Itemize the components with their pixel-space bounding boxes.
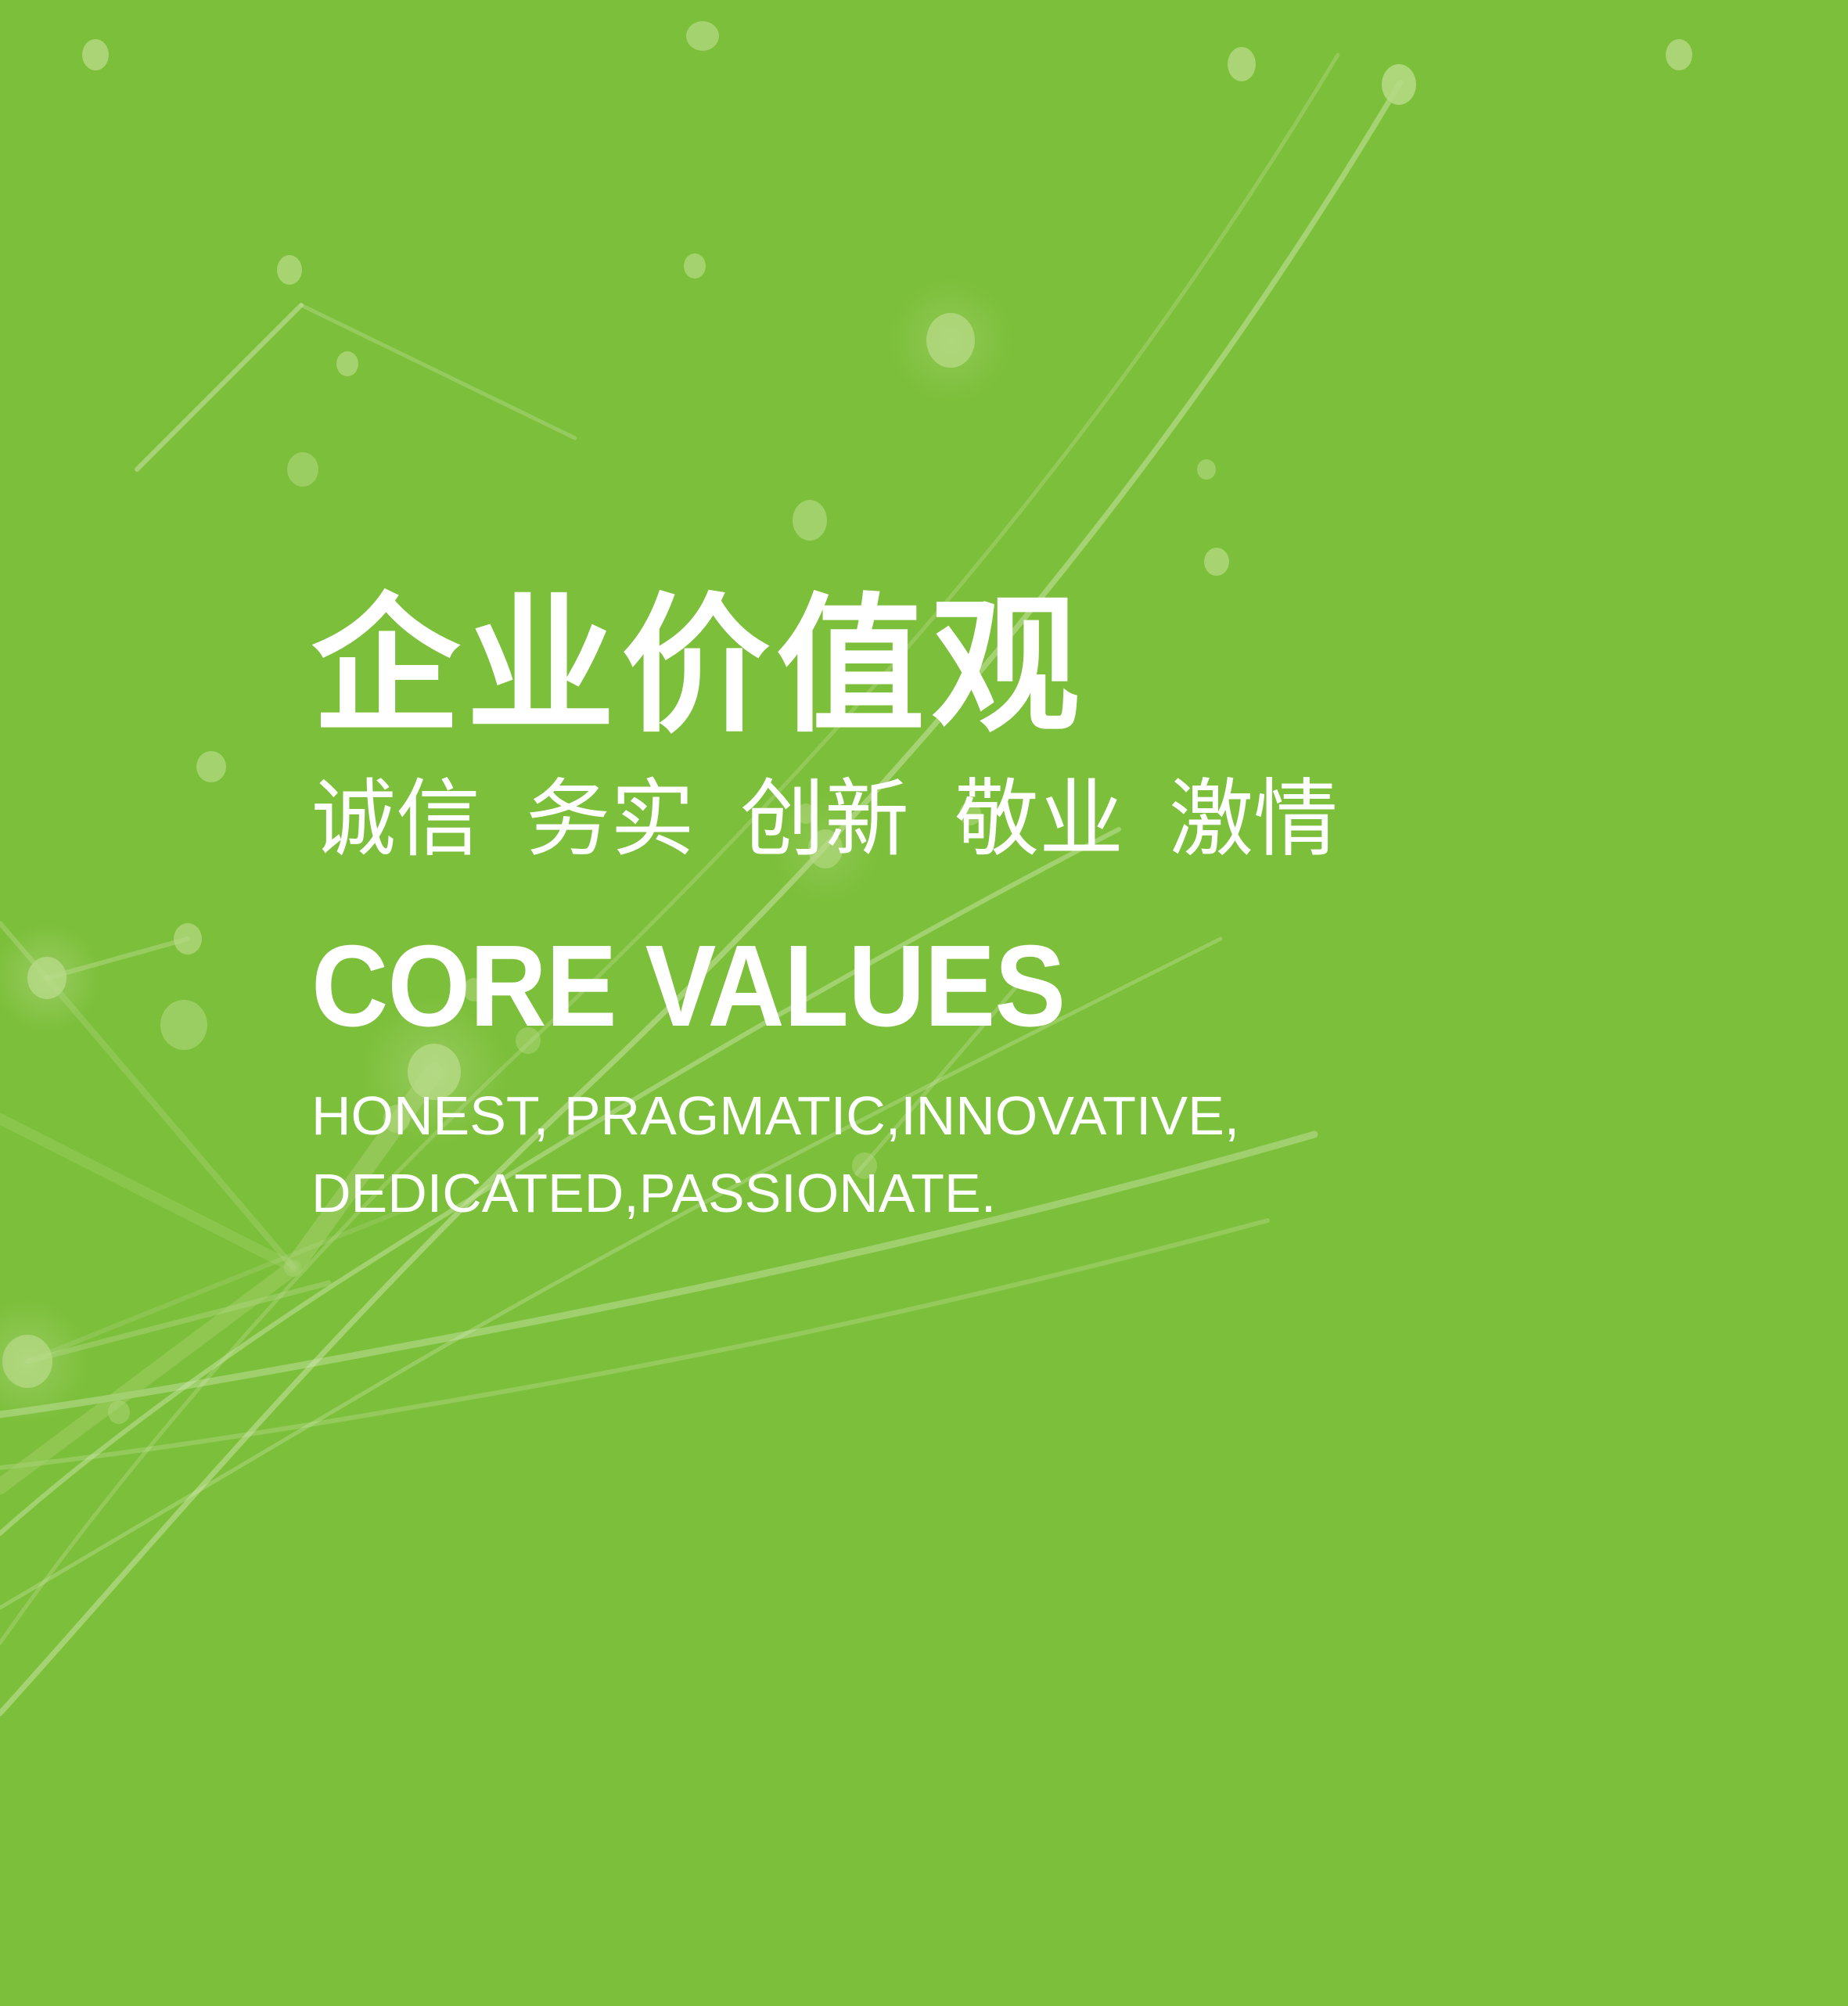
value-keyword-chinese: 敬业 [955, 771, 1124, 868]
value-keyword-chinese: 创新 [740, 771, 909, 868]
value-keyword-chinese: 激情 [1169, 771, 1338, 868]
core-values-poster: 企业价值观 诚信务实创新敬业激情 CORE VALUES HONEST, PRA… [0, 0, 1848, 2006]
poster-text-block: 企业价值观 诚信务实创新敬业激情 CORE VALUES HONEST, PRA… [311, 588, 1688, 1232]
page-title-chinese: 企业价值观 [311, 588, 1688, 745]
value-keyword-chinese: 诚信 [311, 771, 480, 868]
value-keyword-chinese: 务实 [526, 771, 695, 868]
page-title-english: CORE VALUES [311, 929, 1578, 1044]
values-english-line-1: HONEST, PRAGMATIC,INNOVATIVE, [311, 1077, 1688, 1155]
values-keyword-list-chinese: 诚信务实创新敬业激情 [311, 767, 1688, 872]
values-keyword-list-english: HONEST, PRAGMATIC,INNOVATIVE, DEDICATED,… [311, 1077, 1688, 1233]
values-english-line-2: DEDICATED,PASSIONATE. [311, 1155, 1688, 1232]
